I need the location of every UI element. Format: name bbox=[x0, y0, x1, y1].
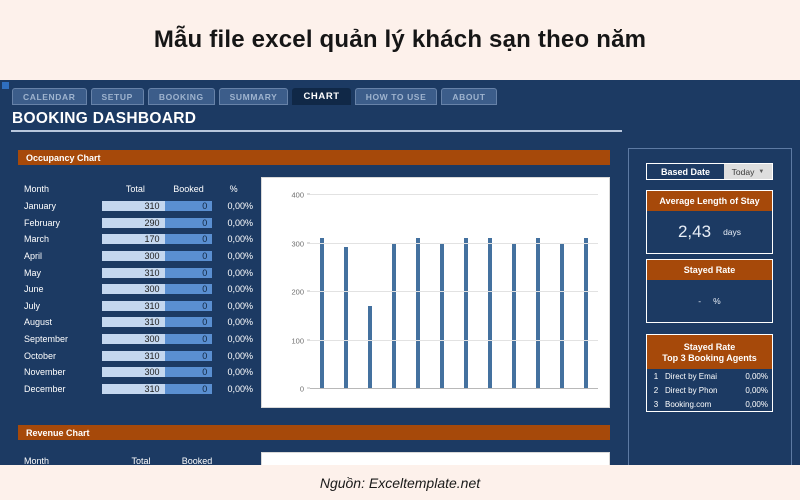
agent-index: 3 bbox=[647, 400, 665, 409]
cell-booked: 0 bbox=[165, 234, 213, 244]
top-booking-agents-title: Stayed Rate Top 3 Booking Agents bbox=[647, 335, 772, 369]
page-title: Mẫu file excel quản lý khách sạn theo nă… bbox=[154, 26, 646, 54]
cell-month: April bbox=[20, 251, 102, 261]
top-agents-title-line1: Stayed Rate bbox=[684, 342, 736, 352]
based-date-value: Today bbox=[732, 167, 755, 177]
chart-tick-mark bbox=[307, 194, 310, 195]
agent-name: Direct by Phon bbox=[665, 386, 734, 395]
chart-y-tick-label: 300 bbox=[291, 239, 304, 248]
cell-month: May bbox=[20, 268, 102, 278]
cell-month: February bbox=[20, 218, 102, 228]
based-date-label: Based Date bbox=[647, 164, 724, 179]
cell-booked: 0 bbox=[165, 251, 213, 261]
tab-booking[interactable]: BOOKING bbox=[148, 88, 215, 105]
cell-month: July bbox=[20, 301, 102, 311]
occupancy-table-header-row: MonthTotalBooked% bbox=[20, 180, 255, 198]
agent-index: 2 bbox=[647, 386, 665, 395]
chart-gridline bbox=[310, 340, 598, 341]
cell-booked: 0 bbox=[165, 384, 213, 394]
chart-y-tick-label: 0 bbox=[300, 385, 304, 394]
agent-name: Booking.com bbox=[665, 400, 734, 409]
cell-total: 310 bbox=[102, 351, 165, 361]
cell-pct: 0,00% bbox=[212, 384, 255, 394]
sheet-tab-bar: CALENDARSETUPBOOKINGSUMMARYCHARTHOW TO U… bbox=[12, 88, 497, 105]
revenue-table: Month Total Booked bbox=[20, 452, 255, 465]
tab-about[interactable]: ABOUT bbox=[441, 88, 496, 105]
avg-length-of-stay-card: Average Length of Stay 2,43 days bbox=[646, 190, 773, 254]
cell-booked: 0 bbox=[165, 268, 213, 278]
cell-total: 170 bbox=[102, 234, 165, 244]
occupancy-col-pct: % bbox=[212, 184, 255, 194]
chart-y-tick-label: 100 bbox=[291, 336, 304, 345]
table-row: October31000,00% bbox=[20, 347, 255, 364]
cell-booked: 0 bbox=[165, 334, 213, 344]
cell-pct: 0,00% bbox=[212, 351, 255, 361]
occupancy-col-total: Total bbox=[102, 184, 165, 194]
occupancy-col-booked: Booked bbox=[165, 184, 212, 194]
chart-x-axis-line bbox=[310, 388, 598, 389]
table-row: January31000,00% bbox=[20, 198, 255, 215]
cell-booked: 0 bbox=[165, 218, 213, 228]
tab-setup[interactable]: SETUP bbox=[91, 88, 144, 105]
cell-month: December bbox=[20, 384, 102, 394]
cell-pct: 0,00% bbox=[212, 317, 255, 327]
table-row: May31000,00% bbox=[20, 264, 255, 281]
cell-total: 300 bbox=[102, 284, 165, 294]
cell-booked: 0 bbox=[165, 284, 213, 294]
table-row: July31000,00% bbox=[20, 298, 255, 315]
window-corner-marker bbox=[2, 82, 9, 89]
chart-tick-mark bbox=[307, 339, 310, 340]
stayed-rate-card: Stayed Rate - % bbox=[646, 259, 773, 323]
top-booking-agents-list: 1Direct by Emai0,00%2Direct by Phon0,00%… bbox=[647, 369, 772, 411]
dashboard-heading-rule bbox=[11, 130, 622, 132]
top-booking-agents-card: Stayed Rate Top 3 Booking Agents 1Direct… bbox=[646, 334, 773, 412]
revenue-section-label: Revenue Chart bbox=[26, 428, 90, 438]
chart-bar bbox=[440, 243, 445, 389]
tab-how-to-use[interactable]: HOW TO USE bbox=[355, 88, 438, 105]
agent-name: Direct by Emai bbox=[665, 372, 734, 381]
page-banner: Mẫu file excel quản lý khách sạn theo nă… bbox=[0, 0, 800, 80]
cell-pct: 0,00% bbox=[212, 301, 255, 311]
cell-pct: 0,00% bbox=[212, 367, 255, 377]
table-row: February29000,00% bbox=[20, 215, 255, 232]
cell-total: 310 bbox=[102, 317, 165, 327]
occupancy-section-label: Occupancy Chart bbox=[26, 153, 101, 163]
stayed-rate-unit: % bbox=[713, 296, 721, 306]
table-row: September30000,00% bbox=[20, 331, 255, 348]
avg-length-of-stay-value: 2,43 bbox=[678, 222, 711, 242]
chart-tick-mark bbox=[307, 291, 310, 292]
table-row: August31000,00% bbox=[20, 314, 255, 331]
list-item: 1Direct by Emai0,00% bbox=[647, 369, 772, 383]
chart-y-tick-label: 400 bbox=[291, 191, 304, 200]
cell-month: November bbox=[20, 367, 102, 377]
cell-month: June bbox=[20, 284, 102, 294]
avg-length-of-stay-title: Average Length of Stay bbox=[647, 191, 772, 211]
cell-pct: 0,00% bbox=[212, 251, 255, 261]
cell-total: 310 bbox=[102, 268, 165, 278]
occupancy-section-header: Occupancy Chart bbox=[18, 150, 610, 165]
cell-pct: 0,00% bbox=[212, 234, 255, 244]
table-row: June30000,00% bbox=[20, 281, 255, 298]
agent-index: 1 bbox=[647, 372, 665, 381]
cell-pct: 0,00% bbox=[212, 218, 255, 228]
cell-month: September bbox=[20, 334, 102, 344]
top-agents-title-line2: Top 3 Booking Agents bbox=[662, 353, 757, 363]
chart-bar bbox=[392, 243, 397, 389]
cell-total: 310 bbox=[102, 201, 165, 211]
dashboard-heading: BOOKING DASHBOARD bbox=[12, 110, 196, 128]
cell-month: January bbox=[20, 201, 102, 211]
cell-total: 290 bbox=[102, 218, 165, 228]
chart-tick-mark bbox=[307, 388, 310, 389]
agent-value: 0,00% bbox=[734, 372, 772, 381]
chart-tick-mark bbox=[307, 242, 310, 243]
list-item: 2Direct by Phon0,00% bbox=[647, 383, 772, 397]
excel-app-window: CALENDARSETUPBOOKINGSUMMARYCHARTHOW TO U… bbox=[0, 80, 800, 465]
table-row: April30000,00% bbox=[20, 248, 255, 265]
avg-length-of-stay-body: 2,43 days bbox=[647, 211, 772, 253]
cell-pct: 0,00% bbox=[212, 284, 255, 294]
revenue-col-total: Total bbox=[106, 456, 172, 465]
chart-bar bbox=[320, 238, 325, 388]
chart-bar bbox=[464, 238, 469, 388]
cell-total: 310 bbox=[102, 384, 165, 394]
chart-y-tick-label: 200 bbox=[291, 288, 304, 297]
cell-total: 300 bbox=[102, 251, 165, 261]
list-item: 3Booking.com0,00% bbox=[647, 397, 772, 411]
tab-calendar[interactable]: CALENDAR bbox=[12, 88, 87, 105]
occupancy-col-month: Month bbox=[20, 184, 102, 194]
table-row: November30000,00% bbox=[20, 364, 255, 381]
chart-gridline bbox=[310, 194, 598, 195]
chart-bar bbox=[512, 243, 517, 389]
cell-booked: 0 bbox=[165, 367, 213, 377]
cell-month: August bbox=[20, 317, 102, 327]
stayed-rate-body: - % bbox=[647, 280, 772, 322]
page-footer: Nguồn: Exceltemplate.net bbox=[0, 465, 800, 500]
cell-pct: 0,00% bbox=[212, 334, 255, 344]
avg-length-of-stay-unit: days bbox=[723, 227, 741, 237]
stayed-rate-value: - bbox=[698, 296, 701, 306]
revenue-chart-panel bbox=[261, 452, 610, 465]
chart-bar bbox=[368, 306, 373, 388]
table-row: December31000,00% bbox=[20, 381, 255, 398]
chart-bar bbox=[560, 243, 565, 389]
chart-bar bbox=[416, 238, 421, 388]
chart-gridline bbox=[310, 291, 598, 292]
kpi-sidebar: Based Date Today ▼ Average Length of Sta… bbox=[628, 148, 792, 465]
cell-total: 300 bbox=[102, 334, 165, 344]
cell-month: October bbox=[20, 351, 102, 361]
chevron-down-icon: ▼ bbox=[758, 169, 764, 175]
table-row: March17000,00% bbox=[20, 231, 255, 248]
based-date-control[interactable]: Based Date Today ▼ bbox=[646, 163, 773, 180]
agent-value: 0,00% bbox=[734, 400, 772, 409]
cell-month: March bbox=[20, 234, 102, 244]
stayed-rate-title: Stayed Rate bbox=[647, 260, 772, 280]
based-date-dropdown[interactable]: Today ▼ bbox=[724, 164, 772, 179]
cell-total: 300 bbox=[102, 367, 165, 377]
cell-total: 310 bbox=[102, 301, 165, 311]
cell-pct: 0,00% bbox=[212, 201, 255, 211]
chart-bar bbox=[536, 238, 541, 388]
revenue-table-header-row: Month Total Booked bbox=[20, 452, 255, 465]
cell-booked: 0 bbox=[165, 301, 213, 311]
occupancy-chart-panel: 0100200300400 bbox=[261, 177, 610, 408]
agent-value: 0,00% bbox=[734, 386, 772, 395]
chart-bar bbox=[488, 238, 493, 388]
chart-bar bbox=[344, 247, 349, 388]
cell-booked: 0 bbox=[165, 351, 213, 361]
chart-bar bbox=[584, 238, 589, 388]
occupancy-table: MonthTotalBooked%January31000,00%Februar… bbox=[20, 180, 255, 397]
tab-summary[interactable]: SUMMARY bbox=[219, 88, 289, 105]
revenue-col-month: Month bbox=[20, 456, 106, 465]
tab-chart[interactable]: CHART bbox=[292, 88, 350, 105]
cell-pct: 0,00% bbox=[212, 268, 255, 278]
cell-booked: 0 bbox=[165, 317, 213, 327]
revenue-section-header: Revenue Chart bbox=[18, 425, 610, 440]
cell-booked: 0 bbox=[165, 201, 213, 211]
source-credit: Nguồn: Exceltemplate.net bbox=[320, 475, 480, 491]
chart-gridline bbox=[310, 243, 598, 244]
revenue-col-booked: Booked bbox=[172, 456, 222, 465]
occupancy-chart-plot: 0100200300400 bbox=[310, 194, 598, 389]
